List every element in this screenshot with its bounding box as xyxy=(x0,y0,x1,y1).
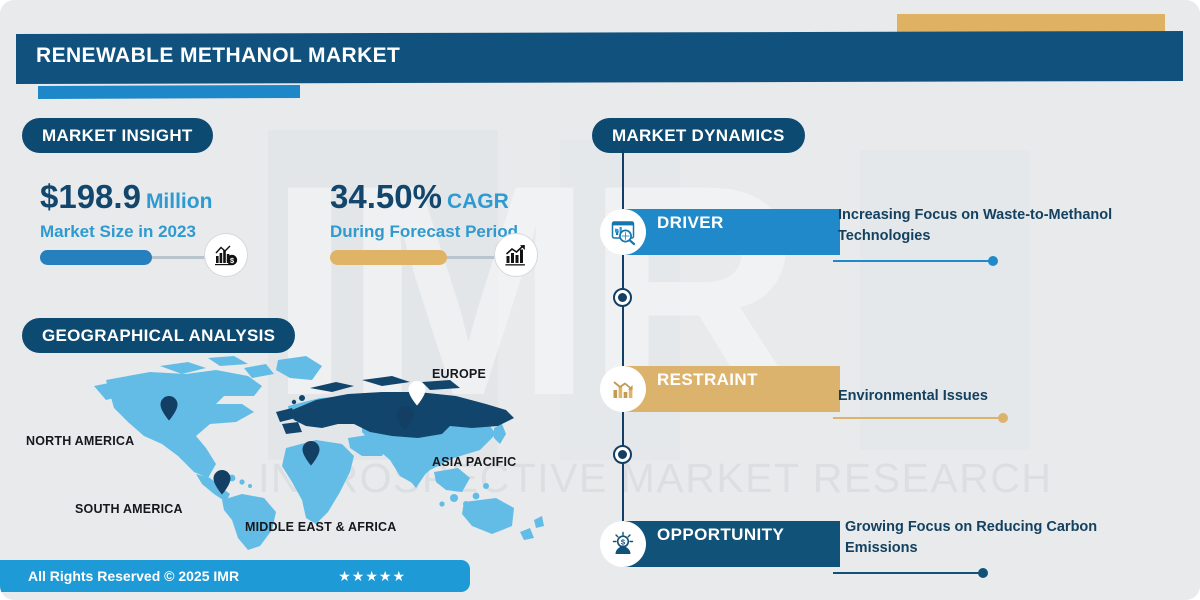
report-magnifier-icon xyxy=(600,209,646,255)
driver-text: Increasing Focus on Waste-to-Methanol Te… xyxy=(838,205,1138,247)
world-map: NORTH AMERICA SOUTH AMERICA MIDDLE EAST … xyxy=(10,352,580,552)
kpi-cagr-track xyxy=(330,256,508,259)
geo-label-middle-east-africa: MIDDLE EAST & AFRICA xyxy=(245,520,396,534)
geo-label-asia-pacific: ASIA PACIFIC xyxy=(432,455,516,469)
restraint-underline xyxy=(833,417,1003,419)
infographic-canvas: IMR INTROSPECTIVE MARKET RESEARCH RENEWA… xyxy=(0,0,1200,600)
dynamics-timeline-node-2 xyxy=(613,445,632,464)
svg-text:$: $ xyxy=(621,537,626,546)
header-gold-accent xyxy=(897,14,1165,33)
opportunity-text: Growing Focus on Reducing Carbon Emissio… xyxy=(845,517,1145,559)
geo-label-north-america: NORTH AMERICA xyxy=(26,434,134,448)
opportunity-label: OPPORTUNITY xyxy=(657,512,784,558)
restraint-label: RESTRAINT xyxy=(657,357,758,403)
driver-end-dot xyxy=(988,256,998,266)
footer-bar: All Rights Reserved © 2025 IMR ★★★★★ xyxy=(0,560,470,592)
lightbulb-dollar-icon: $ xyxy=(600,521,646,567)
section-heading-market-insight: MARKET INSIGHT xyxy=(22,118,213,153)
geo-label-europe: EUROPE xyxy=(432,367,486,381)
kpi-market-size-unit: Million xyxy=(146,190,213,213)
kpi-market-size-number: $198.9 xyxy=(40,178,141,215)
kpi-market-size-track: $ xyxy=(40,256,218,259)
driver-underline xyxy=(833,260,993,262)
footer-star-rating: ★★★★★ xyxy=(338,568,406,585)
kpi-market-size-fill xyxy=(40,250,152,265)
kpi-market-size-value: $198.9Million xyxy=(40,180,280,213)
growth-arrow-chart-icon xyxy=(494,233,538,277)
kpi-market-size: $198.9Million Market Size in 2023 $ xyxy=(40,180,280,259)
kpi-cagr-unit: CAGR xyxy=(447,190,509,213)
section-heading-market-dynamics: MARKET DYNAMICS xyxy=(592,118,805,153)
kpi-market-size-caption: Market Size in 2023 xyxy=(40,222,280,242)
opportunity-end-dot xyxy=(978,568,988,578)
svg-text:$: $ xyxy=(230,256,234,265)
driver-band xyxy=(622,209,840,255)
section-heading-geographical-analysis: GEOGRAPHICAL ANALYSIS xyxy=(22,318,295,353)
page-title: RENEWABLE METHANOL MARKET xyxy=(36,44,400,68)
restraint-text: Environmental Issues xyxy=(838,386,1138,407)
declining-bar-chart-icon xyxy=(600,366,646,412)
footer-copyright: All Rights Reserved © 2025 IMR xyxy=(28,568,239,584)
kpi-cagr-value: 34.50%CAGR xyxy=(330,180,570,213)
header-blue-accent xyxy=(38,85,300,99)
driver-label: DRIVER xyxy=(657,200,724,246)
geo-label-south-america: SOUTH AMERICA xyxy=(75,502,183,516)
kpi-cagr: 34.50%CAGR During Forecast Period xyxy=(330,180,570,259)
restraint-end-dot xyxy=(998,413,1008,423)
kpi-cagr-caption: During Forecast Period xyxy=(330,222,570,242)
dynamics-timeline-node-1 xyxy=(613,288,632,307)
opportunity-underline xyxy=(833,572,983,574)
bar-chart-dollar-icon: $ xyxy=(204,233,248,277)
kpi-cagr-fill xyxy=(330,250,447,265)
kpi-cagr-number: 34.50% xyxy=(330,178,442,215)
